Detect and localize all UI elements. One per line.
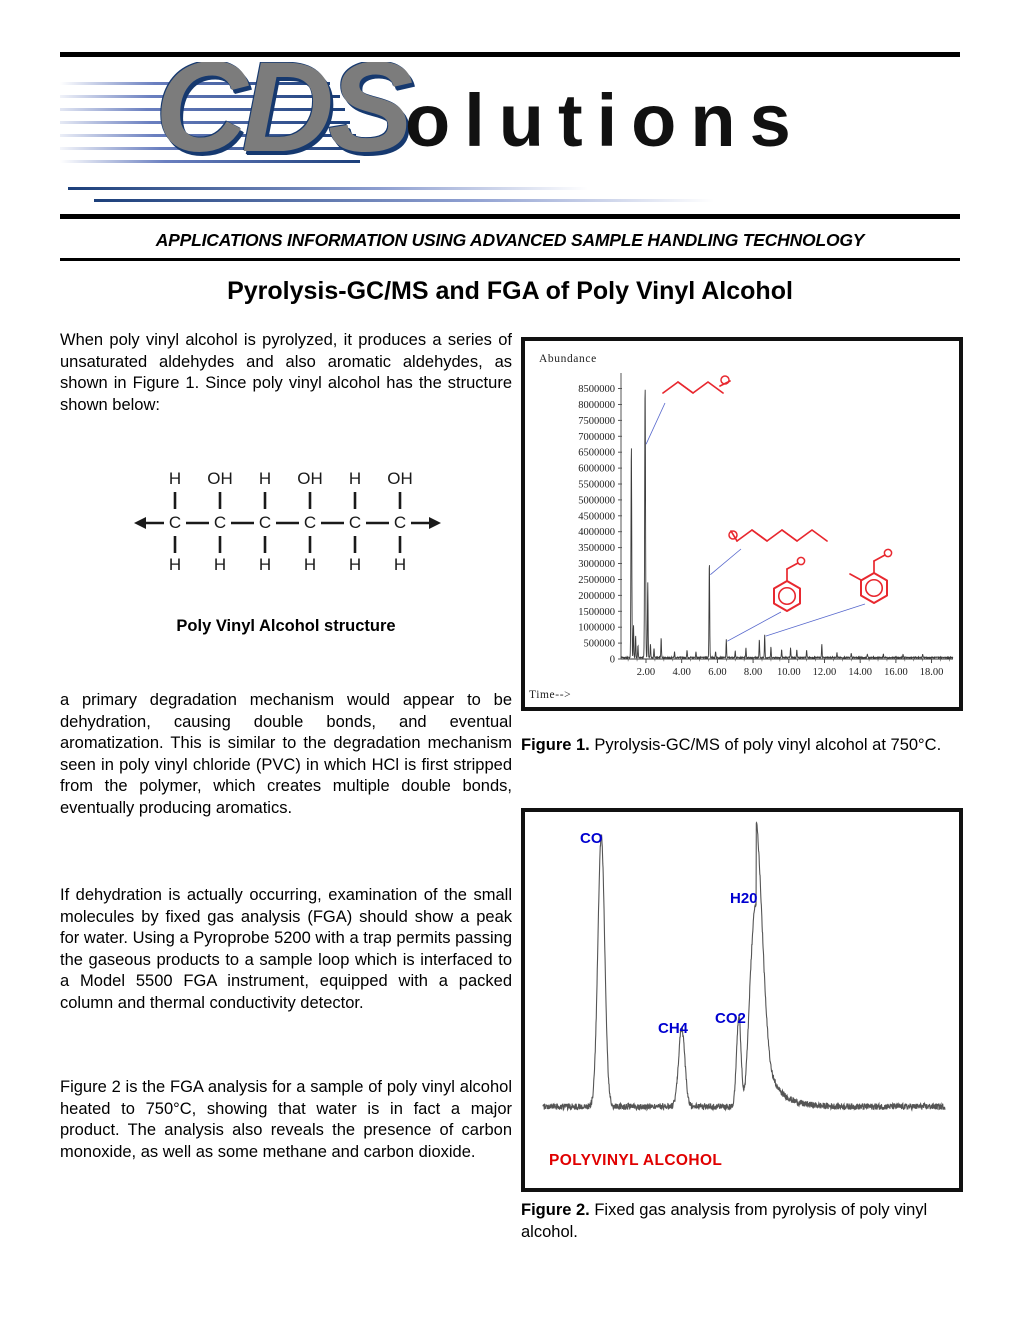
logo-olutions-text: olutions	[405, 84, 805, 158]
fga-peak-label-h2o: H20	[730, 890, 758, 907]
svg-text:500000: 500000	[584, 639, 616, 650]
application-note-page: CDS olutions APPLICATIONS INFORMATION US…	[0, 0, 1020, 1320]
svg-text:H: H	[259, 469, 271, 488]
figure1-y-axis-title: Abundance	[539, 353, 597, 365]
svg-text:14.00: 14.00	[848, 667, 872, 678]
svg-text:6.00: 6.00	[708, 667, 726, 678]
figure2-caption-label: Figure 2.	[521, 1201, 590, 1219]
svg-text:H: H	[349, 469, 361, 488]
figure1-caption-label: Figure 1.	[521, 736, 590, 754]
svg-text:2500000: 2500000	[578, 575, 615, 586]
svg-text:C: C	[169, 513, 181, 532]
svg-text:4000000: 4000000	[578, 527, 615, 538]
paragraph-degradation: a primary degradation mechanism would ap…	[60, 690, 512, 819]
svg-text:0: 0	[610, 655, 615, 666]
svg-text:4500000: 4500000	[578, 511, 615, 522]
figure2-caption: Figure 2. Fixed gas analysis from pyroly…	[521, 1200, 963, 1243]
figure2-plot	[525, 812, 959, 1188]
svg-text:6500000: 6500000	[578, 448, 615, 459]
svg-text:H: H	[259, 555, 271, 574]
logo-cds-text: CDS	[155, 62, 407, 172]
svg-text:8.00: 8.00	[744, 667, 762, 678]
figure1-caption-text: Pyrolysis-GC/MS of poly vinyl alcohol at…	[590, 736, 941, 754]
logo-underline-streak-2	[94, 199, 714, 202]
paragraph-fga-method: If dehydration is actually occurring, ex…	[60, 885, 512, 1014]
fga-peak-label-co: CO	[580, 830, 603, 847]
svg-text:OH: OH	[207, 469, 233, 488]
figure1-plot: 0500000100000015000002000000250000030000…	[525, 341, 959, 707]
figure1-caption: Figure 1. Pyrolysis-GC/MS of poly vinyl …	[521, 735, 963, 757]
svg-text:8500000: 8500000	[578, 384, 615, 395]
svg-text:C: C	[214, 513, 226, 532]
svg-text:3500000: 3500000	[578, 543, 615, 554]
svg-text:18.00: 18.00	[920, 667, 944, 678]
figure2-fga-image: CO CH4 CO2 H20 POLYVINYL ALCOHOL	[521, 808, 963, 1192]
svg-text:H: H	[304, 555, 316, 574]
svg-text:OH: OH	[297, 469, 323, 488]
svg-text:3000000: 3000000	[578, 559, 615, 570]
page-title: Pyrolysis-GC/MS and FGA of Poly Vinyl Al…	[60, 277, 960, 306]
svg-text:1000000: 1000000	[578, 623, 615, 634]
tagline: APPLICATIONS INFORMATION USING ADVANCED …	[60, 230, 960, 251]
svg-text:2000000: 2000000	[578, 591, 615, 602]
svg-text:H: H	[214, 555, 226, 574]
figure1-x-axis-title: Time-->	[529, 689, 571, 701]
svg-text:C: C	[304, 513, 316, 532]
svg-text:6000000: 6000000	[578, 464, 615, 475]
svg-text:8000000: 8000000	[578, 400, 615, 411]
paragraph-results: Figure 2 is the FGA analysis for a sampl…	[60, 1077, 512, 1163]
header-rule-bottom	[60, 214, 960, 219]
svg-text:4.00: 4.00	[673, 667, 691, 678]
svg-text:H: H	[349, 555, 361, 574]
fga-sample-label: POLYVINYL ALCOHOL	[549, 1152, 722, 1170]
tagline-rule	[60, 258, 960, 261]
logo-underline-streak-1	[68, 187, 588, 190]
svg-text:C: C	[349, 513, 361, 532]
poly-vinyl-alcohol-structure-diagram: H OH H OH H OH C C C C C C H H H H H H	[130, 462, 460, 582]
svg-text:16.00: 16.00	[884, 667, 908, 678]
svg-text:7500000: 7500000	[578, 416, 615, 427]
fga-peak-label-co2: CO2	[715, 1010, 746, 1027]
svg-text:C: C	[394, 513, 406, 532]
figure1-pyrogram-image: Abundance Time--> 0500000100000015000002…	[521, 337, 963, 711]
structure-caption: Poly Vinyl Alcohol structure	[60, 617, 512, 636]
svg-text:2.00: 2.00	[637, 667, 655, 678]
svg-text:1500000: 1500000	[578, 607, 615, 618]
svg-text:H: H	[169, 555, 181, 574]
svg-text:OH: OH	[387, 469, 413, 488]
fga-peak-label-ch4: CH4	[658, 1020, 688, 1037]
svg-text:5500000: 5500000	[578, 480, 615, 491]
svg-text:10.00: 10.00	[777, 667, 801, 678]
svg-text:12.00: 12.00	[813, 667, 837, 678]
svg-text:H: H	[169, 469, 181, 488]
svg-text:7000000: 7000000	[578, 432, 615, 443]
header-rule-top	[60, 52, 960, 57]
svg-text:C: C	[259, 513, 271, 532]
cds-solutions-logo: CDS olutions	[60, 62, 960, 210]
svg-text:5000000: 5000000	[578, 495, 615, 506]
paragraph-intro: When poly vinyl alcohol is pyrolyzed, it…	[60, 330, 512, 416]
svg-text:H: H	[394, 555, 406, 574]
